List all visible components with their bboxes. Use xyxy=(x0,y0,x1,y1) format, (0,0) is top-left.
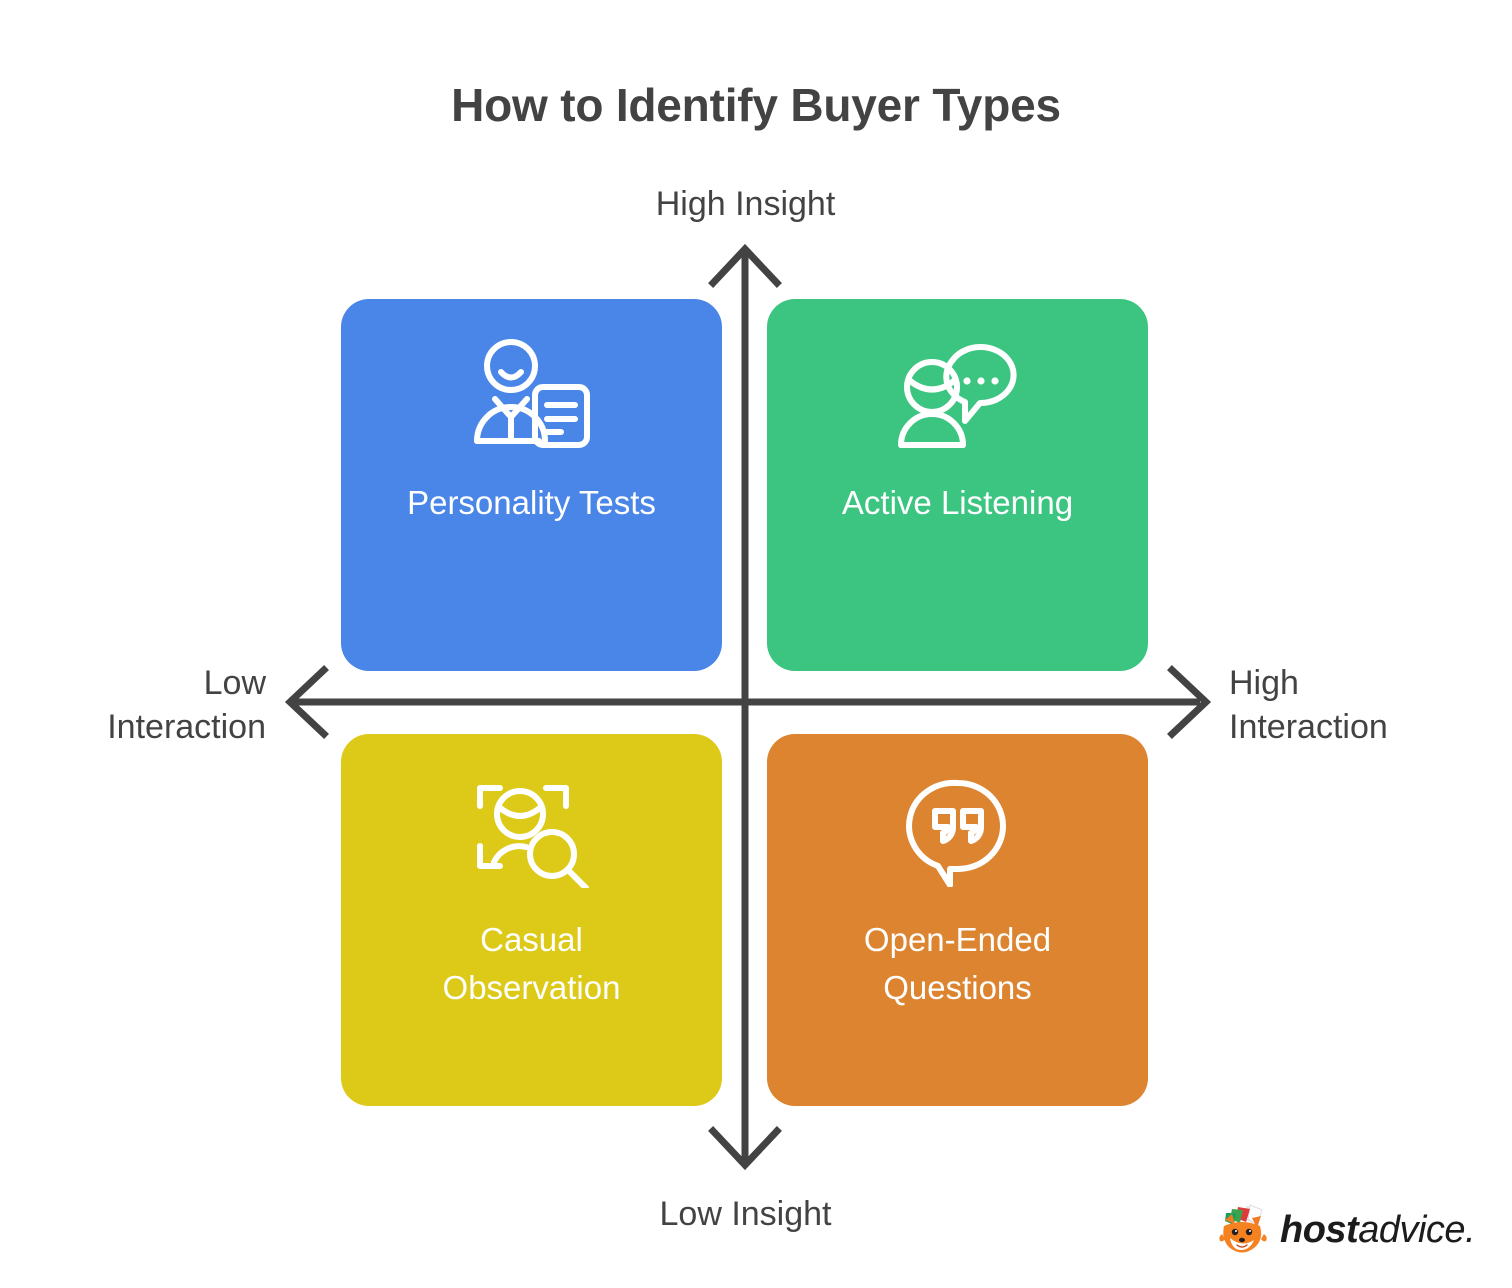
quadrant-label: Open-Ended Questions xyxy=(767,916,1148,1012)
quadrant-card-active-listening[interactable]: Active Listening xyxy=(767,299,1148,671)
quadrant-card-open-ended-questions[interactable]: Open-Ended Questions xyxy=(767,734,1148,1106)
quadrant-label: Casual Observation xyxy=(341,916,722,1012)
infographic-canvas: How to Identify Buyer Types High Insight… xyxy=(0,0,1512,1288)
quadrant-label: Personality Tests xyxy=(341,479,722,527)
quote-speech-bubble-icon xyxy=(905,772,1011,892)
hostadvice-logo[interactable]: hostadvice. xyxy=(1216,1204,1475,1256)
axis-label-high-interaction: High Interaction xyxy=(1229,661,1509,749)
axis-arrow-right xyxy=(1172,670,1206,734)
page-title: How to Identify Buyer Types xyxy=(0,78,1512,132)
quadrant-card-casual-observation[interactable]: Casual Observation xyxy=(341,734,722,1106)
quadrant-label: Active Listening xyxy=(767,479,1148,527)
logo-text-advice: advice. xyxy=(1358,1209,1475,1251)
fox-mascot-icon xyxy=(1216,1204,1272,1256)
axis-arrow-up xyxy=(713,249,777,283)
person-scan-magnifier-icon xyxy=(472,772,592,892)
axis-label-high-insight: High Insight xyxy=(0,182,1491,226)
quadrant-card-personality-tests[interactable]: Personality Tests xyxy=(341,299,722,671)
axis-arrow-left xyxy=(290,670,324,734)
axis-label-low-interaction: Low Interaction xyxy=(20,661,266,749)
person-with-speech-bubble-icon xyxy=(897,335,1019,455)
person-with-document-icon xyxy=(469,335,595,455)
logo-text-host: host xyxy=(1280,1209,1358,1251)
axis-arrow-down xyxy=(713,1131,777,1165)
logo-wordmark: hostadvice. xyxy=(1280,1209,1475,1252)
